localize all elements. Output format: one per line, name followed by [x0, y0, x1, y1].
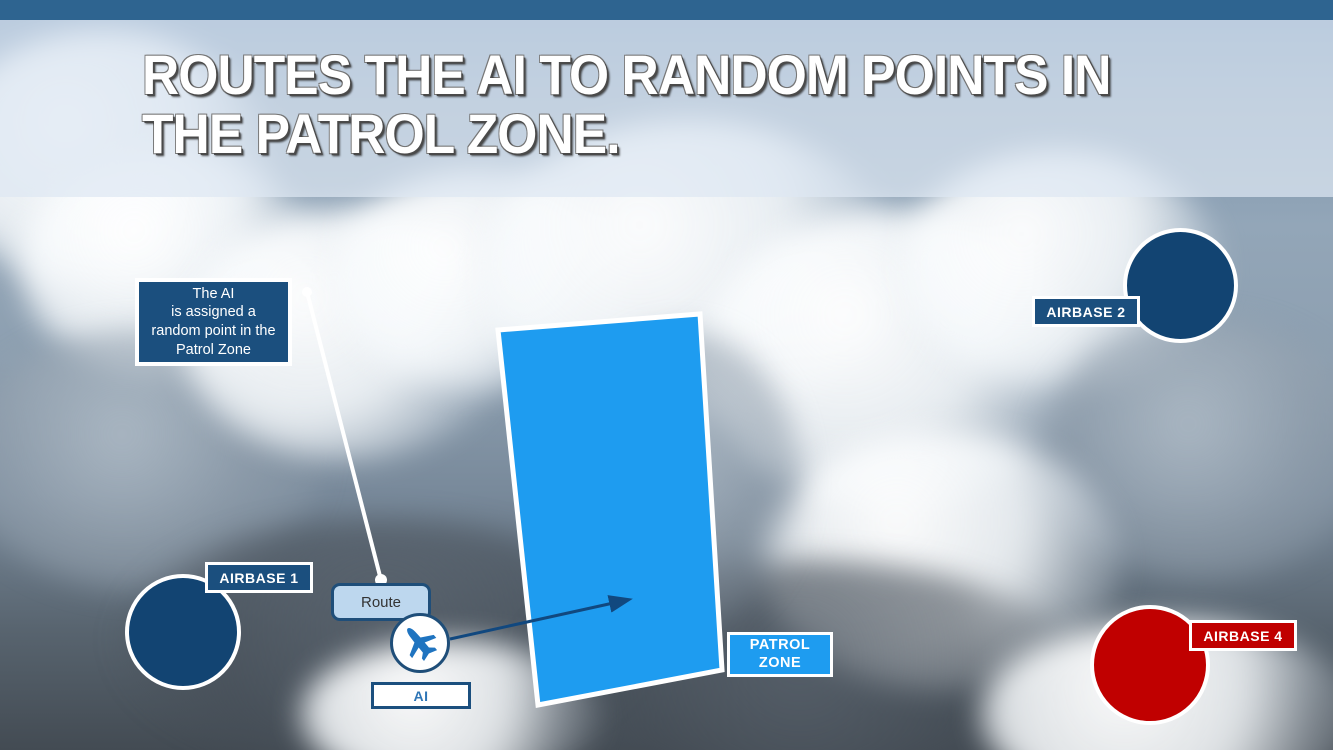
airbase2-label[interactable]: AIRBASE 2 [1032, 296, 1140, 327]
leader-line-start-dot [302, 287, 312, 297]
airbase1-label[interactable]: AIRBASE 1 [205, 562, 313, 593]
patrol-zone-polygon[interactable] [498, 314, 722, 705]
ai-label[interactable]: AI [371, 682, 471, 709]
callout-box[interactable]: The AI is assigned a random point in the… [135, 278, 292, 366]
airbase2-circle[interactable] [1123, 228, 1238, 343]
slide-canvas: Routes the AI to random points in the pa… [0, 0, 1333, 750]
callout-leader-line [307, 292, 381, 580]
patrol-zone-label[interactable]: PATROL ZONE [727, 632, 833, 677]
fighter-jet-icon [399, 622, 441, 664]
airbase4-label[interactable]: AIRBASE 4 [1189, 620, 1297, 651]
ai-aircraft-marker[interactable] [390, 613, 450, 673]
